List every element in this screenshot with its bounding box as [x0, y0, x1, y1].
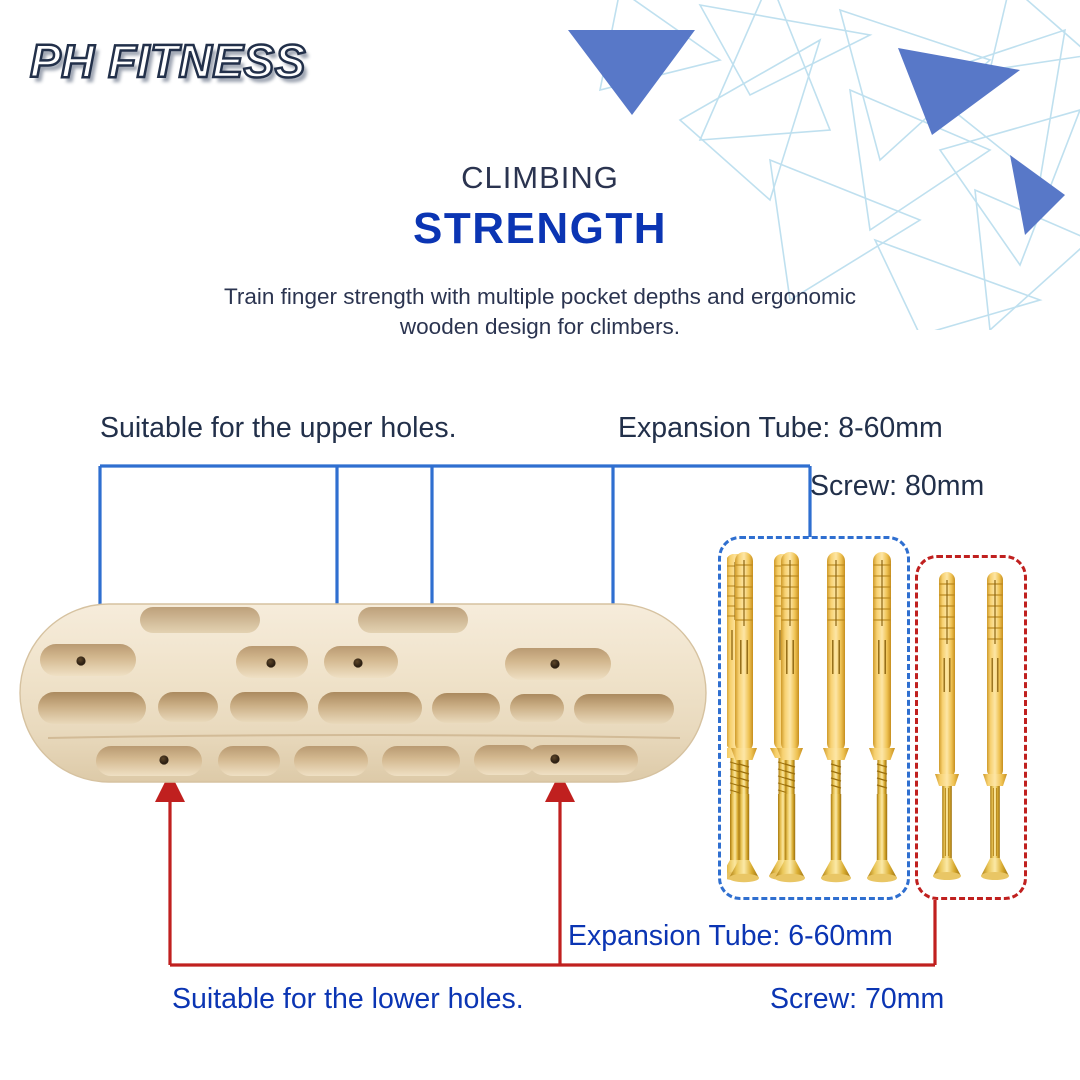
long-anchors: [718, 548, 910, 890]
label-lower-holes: Suitable for the lower holes.: [172, 983, 524, 1016]
header-kicker: CLIMBING: [0, 160, 1080, 196]
brand-logo: PH FITNESS: [30, 34, 306, 88]
page-title: STRENGTH: [0, 204, 1080, 254]
label-expansion-tube-top: Expansion Tube: 8-60mm: [618, 412, 943, 445]
subtitle-line-2: wooden design for climbers.: [400, 314, 680, 339]
subtitle-line-1: Train finger strength with multiple pock…: [224, 284, 856, 309]
infographic-canvas: PH FITNESS CLIMBING STRENGTH Train finge…: [0, 0, 1080, 1080]
label-screw-bottom: Screw: 70mm: [770, 983, 944, 1016]
short-anchors: [915, 568, 1027, 888]
header-subtitle: Train finger strength with multiple pock…: [140, 282, 940, 341]
label-screw-top: Screw: 80mm: [810, 470, 984, 503]
header-block: CLIMBING STRENGTH Train finger strength …: [0, 160, 1080, 341]
label-upper-holes: Suitable for the upper holes.: [100, 412, 457, 445]
climbing-hangboard: [18, 596, 708, 788]
label-expansion-tube-bottom: Expansion Tube: 6-60mm: [568, 920, 893, 953]
